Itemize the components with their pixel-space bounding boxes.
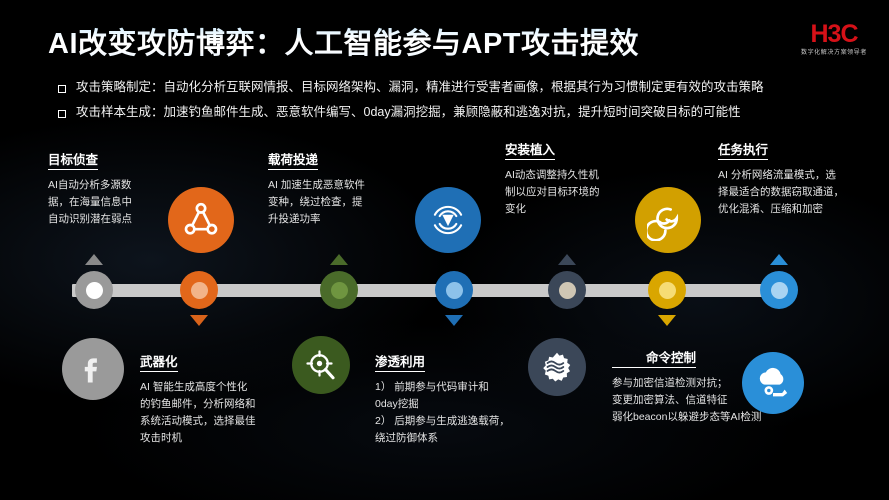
bullet-item: 攻击策略制定：自动化分析互联网情报、目标网络架构、漏洞，精准进行受害者画像，根据…	[58, 80, 878, 96]
stage-body: AI 分析网络流量模式，选 择最适合的数据窃取通道， 优化混淆、压缩和加密	[718, 167, 878, 218]
gear-waves-icon	[538, 348, 576, 386]
slide-canvas: AI改变攻防博弈：人工智能参与APT攻击提效 H3C 数字化解决方案领导者 攻击…	[0, 0, 889, 500]
stage-body-line: 2） 后期参与生成逃逸载荷，	[375, 413, 535, 430]
stage-body-line: 的钓鱼邮件，分析网络和	[140, 396, 290, 413]
square-bullet-icon	[58, 85, 66, 93]
square-bullet-icon	[58, 110, 66, 118]
timeline-node-weaponization[interactable]	[180, 271, 218, 309]
stage-block-weaponization: 武器化 AI 智能生成高度个性化 的钓鱼邮件，分析网络和 系统活动模式，选择最佳…	[140, 351, 290, 447]
node-core	[659, 282, 676, 299]
logo-tagline: 数字化解决方案领导者	[801, 50, 867, 56]
stage-body-line: 变种，绕过检查，提	[268, 194, 394, 211]
node-arrow-up-reconnaissance	[85, 254, 103, 265]
timeline-node-exploitation[interactable]	[435, 271, 473, 309]
timeline-node-delivery[interactable]	[320, 271, 358, 309]
stage-icon-installation[interactable]	[635, 187, 701, 253]
target-scope-icon	[303, 347, 339, 383]
timeline-node-reconnaissance[interactable]	[75, 271, 113, 309]
stage-body-line: AI自动分析多源数	[48, 177, 160, 194]
stage-title: 武器化	[140, 351, 178, 372]
bullet-text: 攻击样本生成：加速钓鱼邮件生成、恶意软件编写、0day漏洞挖掘，兼顾隐蔽和逃逸对…	[76, 105, 741, 121]
stage-block-command-control: 命令控制 参与加密信道检测对抗； 变更加密算法、信道特征 弱化beacon以躲避…	[612, 347, 794, 426]
stage-icon-exploitation[interactable]	[292, 336, 350, 394]
stage-body-line: 自动识别潜在弱点	[48, 211, 160, 228]
stage-body: 1） 前期参与代码审计和 0day挖掘 2） 后期参与生成逃逸载荷， 绕过防御体…	[375, 379, 535, 447]
stage-block-reconnaissance: 目标侦查 AI自动分析多源数 据，在海量信息中 自动识别潜在弱点	[48, 149, 160, 228]
stage-block-installation: 安装植入 AI动态调整持久性机 制以应对目标环境的 变化	[505, 139, 635, 218]
stage-body: AI自动分析多源数 据，在海量信息中 自动识别潜在弱点	[48, 177, 160, 228]
logo-wordmark: H3C	[801, 22, 867, 47]
stage-title: 安装植入	[505, 139, 555, 160]
stage-body-line: 1） 前期参与代码审计和	[375, 379, 535, 396]
page-title: AI改变攻防博弈：人工智能参与APT攻击提效	[48, 20, 639, 62]
stage-body-line: 0day挖掘	[375, 396, 535, 413]
timeline-node-installation[interactable]	[548, 271, 586, 309]
node-arrow-up-actions	[770, 254, 788, 265]
stage-body-line: 变更加密算法、信道特征	[612, 392, 794, 409]
stage-icon-command-control[interactable]	[528, 338, 586, 396]
stage-body-line: 参与加密信道检测对抗；	[612, 375, 794, 392]
bullet-item: 攻击样本生成：加速钓鱼邮件生成、恶意软件编写、0day漏洞挖掘，兼顾隐蔽和逃逸对…	[58, 105, 878, 121]
stage-icon-weaponization[interactable]	[62, 338, 124, 400]
stage-body-line: 升投递功率	[268, 211, 394, 228]
stage-icon-reconnaissance[interactable]	[168, 187, 234, 253]
node-core	[771, 282, 788, 299]
node-core	[191, 282, 208, 299]
slide-header: AI改变攻防博弈：人工智能参与APT攻击提效 H3C 数字化解决方案领导者	[0, 0, 889, 72]
stage-block-exploitation: 渗透利用 1） 前期参与代码审计和 0day挖掘 2） 后期参与生成逃逸载荷， …	[375, 351, 535, 447]
stage-body-line: 变化	[505, 201, 635, 218]
stage-block-delivery: 载荷投递 AI 加速生成恶意软件 变种，绕过检查，提 升投递功率	[268, 149, 394, 228]
node-arrow-down-weaponization	[190, 315, 208, 326]
node-arrow-down-exploitation	[445, 315, 463, 326]
stage-body-line: 绕过防御体系	[375, 430, 535, 447]
stage-body-line: 优化混淆、压缩和加密	[718, 201, 878, 218]
stage-body-line: AI 分析网络流量模式，选	[718, 167, 878, 184]
h3c-logo: H3C 数字化解决方案领导者	[801, 22, 867, 56]
stage-body: AI动态调整持久性机 制以应对目标环境的 变化	[505, 167, 635, 218]
stage-body-line: AI 智能生成高度个性化	[140, 379, 290, 396]
bullet-text: 攻击策略制定：自动化分析互联网情报、目标网络架构、漏洞，精准进行受害者画像，根据…	[76, 80, 764, 96]
stage-title: 目标侦查	[48, 149, 98, 170]
stage-body: 参与加密信道检测对抗； 变更加密算法、信道特征 弱化beacon以躲避步态等AI…	[612, 375, 794, 426]
webhook-nodes-icon	[181, 200, 221, 240]
stage-body-line: 据，在海量信息中	[48, 194, 160, 211]
shield-radar-icon	[427, 199, 469, 241]
bullet-list: 攻击策略制定：自动化分析互联网情报、目标网络架构、漏洞，精准进行受害者画像，根据…	[58, 80, 878, 129]
stage-body-line: 择最适合的数据窃取通道，	[718, 184, 878, 201]
stage-body: AI 智能生成高度个性化 的钓鱼邮件，分析网络和 系统活动模式，选择最佳 攻击时…	[140, 379, 290, 447]
node-core	[559, 282, 576, 299]
stage-title: 渗透利用	[375, 351, 425, 372]
facebook-f-icon	[76, 352, 110, 386]
interlocked-swirl-icon	[647, 199, 689, 241]
stage-block-actions: 任务执行 AI 分析网络流量模式，选 择最适合的数据窃取通道， 优化混淆、压缩和…	[718, 139, 878, 218]
stage-body: AI 加速生成恶意软件 变种，绕过检查，提 升投递功率	[268, 177, 394, 228]
timeline-node-actions[interactable]	[760, 271, 798, 309]
stage-body-line: 弱化beacon以躲避步态等AI检测	[612, 409, 794, 426]
stage-body-line: AI 加速生成恶意软件	[268, 177, 394, 194]
stage-body-line: 系统活动模式，选择最佳	[140, 413, 290, 430]
timeline-node-command-control[interactable]	[648, 271, 686, 309]
node-arrow-down-command-control	[658, 315, 676, 326]
stage-title: 命令控制	[612, 347, 696, 368]
stage-body-line: AI动态调整持久性机	[505, 167, 635, 184]
node-core	[446, 282, 463, 299]
node-arrow-up-installation	[558, 254, 576, 265]
node-core	[331, 282, 348, 299]
node-core	[86, 282, 103, 299]
stage-body-line: 制以应对目标环境的	[505, 184, 635, 201]
stage-body-line: 攻击时机	[140, 430, 290, 447]
stage-icon-delivery[interactable]	[415, 187, 481, 253]
stage-title: 载荷投递	[268, 149, 318, 170]
stage-title: 任务执行	[718, 139, 768, 160]
node-arrow-up-delivery	[330, 254, 348, 265]
